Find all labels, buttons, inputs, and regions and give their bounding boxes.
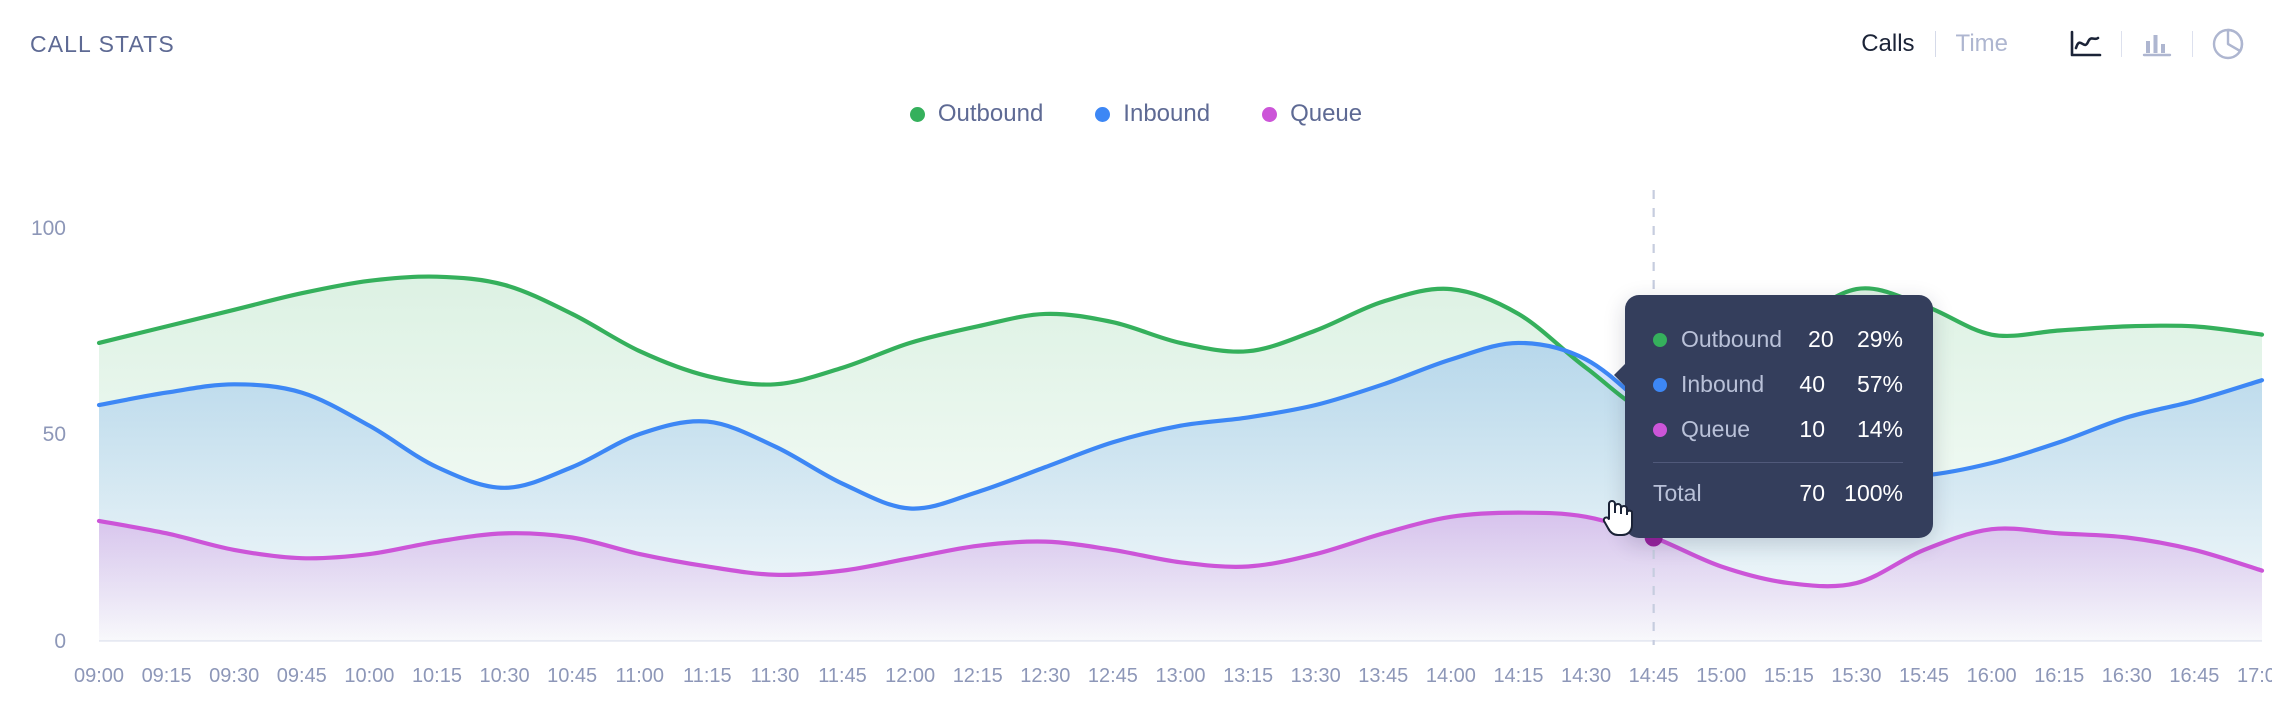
x-axis-tick-label: 14:45 [1629, 665, 1679, 688]
tooltip-value-queue: 10 [1767, 416, 1825, 443]
tooltip-dot-queue [1653, 423, 1667, 437]
tooltip-value-total: 70 [1767, 480, 1825, 507]
x-axis-tick-label: 10:15 [412, 665, 462, 688]
x-axis-tick-label: 12:30 [1020, 665, 1070, 688]
tooltip-percent-inbound: 57% [1825, 371, 1903, 398]
x-axis-labels: 09:0009:1509:3009:4510:0010:1510:3010:45… [0, 665, 2272, 695]
x-axis-tick-label: 10:00 [344, 665, 394, 688]
tooltip-dot-outbound [1653, 333, 1667, 347]
x-axis-tick-label: 11:15 [683, 665, 732, 688]
tooltip-label-queue: Queue [1681, 416, 1767, 443]
tooltip-row-queue: Queue 10 14% [1653, 407, 1903, 452]
tooltip-value-inbound: 40 [1767, 371, 1825, 398]
x-axis-tick-label: 15:15 [1764, 665, 1814, 688]
x-axis-tick-label: 14:30 [1561, 665, 1611, 688]
x-axis-tick-label: 15:45 [1899, 665, 1949, 688]
y-axis-label-50: 50 [6, 423, 66, 447]
x-axis-tick-label: 14:15 [1493, 665, 1543, 688]
x-axis-tick-label: 10:30 [480, 665, 530, 688]
x-axis-tick-label: 12:15 [953, 665, 1003, 688]
x-axis-tick-label: 12:00 [885, 665, 935, 688]
tooltip-percent-outbound: 29% [1834, 326, 1903, 353]
tooltip-divider [1653, 462, 1903, 463]
y-axis-label-100: 100 [6, 217, 66, 241]
x-axis-tick-label: 13:00 [1155, 665, 1205, 688]
tooltip-percent-queue: 14% [1825, 416, 1903, 443]
tooltip-percent-total: 100% [1825, 480, 1903, 507]
tooltip-arrow [1614, 363, 1626, 387]
x-axis-tick-label: 15:30 [1831, 665, 1881, 688]
x-axis-tick-label: 13:45 [1358, 665, 1408, 688]
tooltip-value-outbound: 20 [1782, 326, 1834, 353]
x-axis-tick-label: 11:30 [751, 665, 800, 688]
tooltip-row-inbound: Inbound 40 57% [1653, 362, 1903, 407]
x-axis-tick-label: 09:00 [74, 665, 124, 688]
x-axis-tick-label: 11:45 [818, 665, 867, 688]
x-axis-tick-label: 16:30 [2102, 665, 2152, 688]
call-stats-panel: CALL STATS Calls Time [0, 0, 2272, 722]
y-axis-label-0: 0 [6, 630, 66, 654]
x-axis-tick-label: 09:45 [277, 665, 327, 688]
x-axis-tick-label: 13:30 [1291, 665, 1341, 688]
tooltip-row-outbound: Outbound 20 29% [1653, 317, 1903, 362]
tooltip-dot-inbound [1653, 378, 1667, 392]
x-axis-tick-label: 14:00 [1426, 665, 1476, 688]
x-axis-tick-label: 17:00 [2237, 665, 2272, 688]
x-axis-tick-label: 12:45 [1088, 665, 1138, 688]
x-axis-tick-label: 10:45 [547, 665, 597, 688]
tooltip-label-total: Total [1653, 480, 1767, 507]
hover-tooltip: Outbound 20 29% Inbound 40 57% Queue 10 … [1625, 295, 1933, 538]
tooltip-label-inbound: Inbound [1681, 371, 1767, 398]
x-axis-tick-label: 09:15 [142, 665, 192, 688]
x-axis-tick-label: 15:00 [1696, 665, 1746, 688]
x-axis-tick-label: 16:00 [1967, 665, 2017, 688]
x-axis-tick-label: 13:15 [1223, 665, 1273, 688]
tooltip-row-total: Total 70 100% [1653, 471, 1903, 516]
x-axis-tick-label: 16:45 [2169, 665, 2219, 688]
tooltip-label-outbound: Outbound [1681, 326, 1782, 353]
x-axis-tick-label: 09:30 [209, 665, 259, 688]
x-axis-tick-label: 16:15 [2034, 665, 2084, 688]
x-axis-tick-label: 11:00 [615, 665, 664, 688]
